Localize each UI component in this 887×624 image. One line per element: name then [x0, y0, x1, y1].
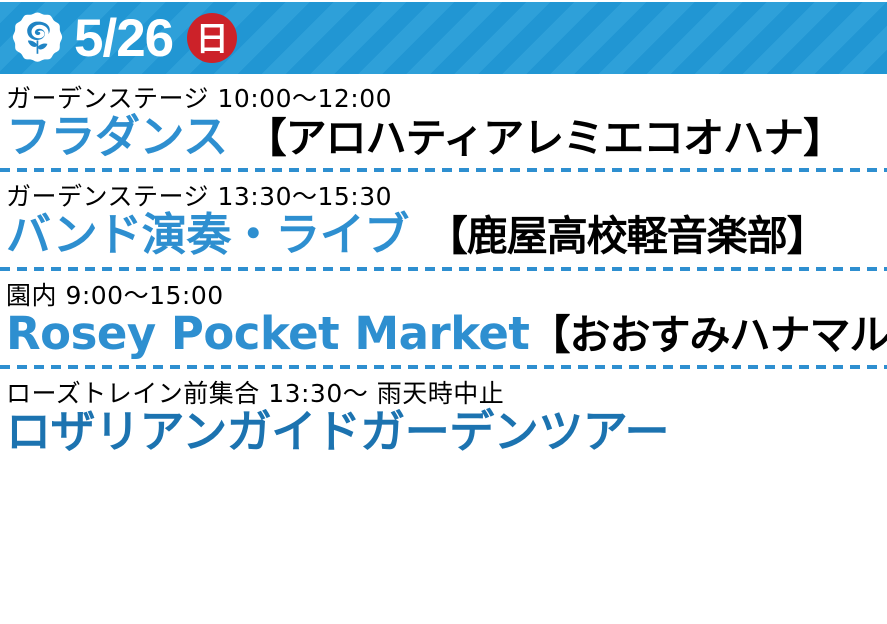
event-title-main: フラダンス — [6, 110, 228, 163]
event-title-sub: 【鹿屋高校軽音楽部】 — [427, 212, 827, 260]
event-title: ロザリアンガイドガーデンツアー — [6, 408, 887, 461]
list-item: ガーデンステージ 10:00〜12:00 フラダンス【アロハティアレミエコオハナ… — [0, 74, 887, 166]
event-list: ガーデンステージ 10:00〜12:00 フラダンス【アロハティアレミエコオハナ… — [0, 74, 887, 461]
event-title: フラダンス【アロハティアレミエコオハナ】 — [6, 113, 887, 166]
list-item: 園内 9:00〜15:00 Rosey Pocket Market【おおすみハナ… — [0, 271, 887, 363]
header-date: 5/26 — [74, 12, 173, 65]
event-title-main: Rosey Pocket Market — [6, 307, 529, 360]
day-of-week-badge: 日 — [187, 13, 237, 63]
event-title-main: バンド演奏・ライブ — [6, 208, 409, 261]
event-meta: ローズトレイン前集合 13:30〜 雨天時中止 — [6, 369, 887, 408]
event-meta: 園内 9:00〜15:00 — [6, 271, 887, 310]
list-item: ガーデンステージ 13:30〜15:30 バンド演奏・ライブ【鹿屋高校軽音楽部】 — [0, 172, 887, 264]
list-item: ローズトレイン前集合 13:30〜 雨天時中止 ロザリアンガイドガーデンツアー — [0, 369, 887, 461]
event-title-sub: 【アロハティアレミエコオハナ】 — [246, 114, 844, 162]
date-header-banner: 5/26 日 — [0, 2, 887, 74]
event-title-main: ロザリアンガイドガーデンツアー — [6, 405, 669, 458]
event-title: Rosey Pocket Market【おおすみハナマルシェ】 — [6, 310, 887, 363]
event-schedule-page: 5/26 日 ガーデンステージ 10:00〜12:00 フラダンス【アロハティア… — [0, 2, 887, 624]
event-title-sub: 【おおすみハナマルシェ】 — [529, 311, 887, 359]
event-meta: ガーデンステージ 13:30〜15:30 — [6, 172, 887, 211]
event-meta: ガーデンステージ 10:00〜12:00 — [6, 74, 887, 113]
rose-badge-icon — [9, 10, 66, 67]
event-title: バンド演奏・ライブ【鹿屋高校軽音楽部】 — [6, 211, 887, 264]
